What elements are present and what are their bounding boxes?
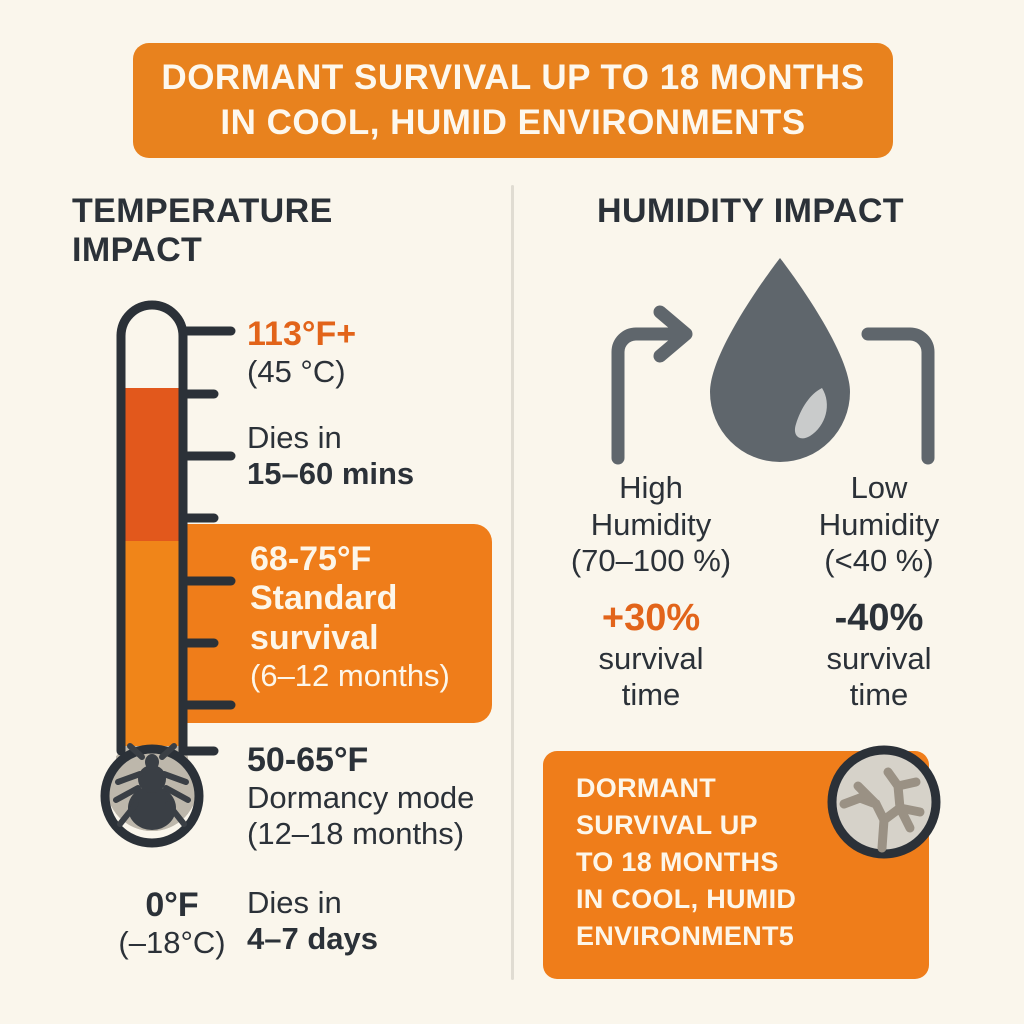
header-banner: DORMANT SURVIVAL UP TO 18 MONTHS IN COOL… [133,43,893,158]
label-dormancy-duration: (12–18 months) [247,816,474,852]
infographic-canvas: DORMANT SURVIVAL UP TO 18 MONTHS IN COOL… [0,0,1024,1024]
label-0f-value: 0°F [97,886,247,925]
humidity-low-range: (<40 %) [784,543,974,580]
label-dies-minutes-line1: Dies in [247,420,414,456]
elbow-line-down-icon [868,334,928,458]
water-droplet-icon [710,258,850,462]
humidity-high-delta: +30% [556,596,746,641]
humidity-section-title: HUMIDITY IMPACT [597,192,987,231]
humidity-low-name-line2: Humidity [784,507,974,544]
header-line-2: IN COOL, HUMID ENVIRONMENTS [220,101,805,145]
label-standard-duration: (6–12 months) [250,658,450,694]
label-dies-days: Dies in 4–7 days [247,885,378,957]
humidity-low-name-line1: Low [784,470,974,507]
humidity-high-range: (70–100 %) [556,543,746,580]
label-0f-celsius: (–18°C) [97,925,247,961]
humidity-low-delta: -40% [784,596,974,641]
label-113f: 113°F+ (45 °C) [247,315,356,390]
label-dormancy-value: 50-65°F [247,741,474,780]
header-line-1: DORMANT SURVIVAL UP TO 18 MONTHS [161,56,864,100]
card-line-4: IN COOL, HUMID [576,881,906,918]
label-dormancy: 50-65°F Dormancy mode (12–18 months) [247,741,474,852]
magnifier-mold-icon [824,742,944,862]
humidity-high-note-line2: time [556,677,746,714]
label-113f-celsius: (45 °C) [247,354,356,390]
humidity-high-name-line2: Humidity [556,507,746,544]
humidity-illustration [560,240,1000,480]
label-dies-days-line1: Dies in [247,885,378,921]
temperature-section-title: TEMPERATURE IMPACT [72,192,402,271]
label-standard-line3: survival [250,619,450,658]
humidity-low-note-line1: survival [784,641,974,678]
label-dormancy-line2: Dormancy mode [247,780,474,816]
label-dies-minutes: Dies in 15–60 mins [247,420,414,492]
column-divider [511,185,514,980]
thermometer-graphic [86,296,236,876]
humidity-high-note-line1: survival [556,641,746,678]
thermometer-ticks [183,331,231,751]
label-standard-line2: Standard [250,579,450,618]
label-dies-days-line2: 4–7 days [247,921,378,957]
label-113f-value: 113°F+ [247,315,356,354]
curved-arrow-up-right-icon [618,312,686,458]
label-0f: 0°F (–18°C) [97,886,247,961]
humidity-high-name-line1: High [556,470,746,507]
humidity-column-high: High Humidity (70–100 %) +30% survival t… [556,470,746,714]
label-dies-minutes-line2: 15–60 mins [247,456,414,492]
label-standard-value: 68-75°F [250,540,450,579]
card-line-5: ENVIRONMENT5 [576,918,906,955]
humidity-column-low: Low Humidity (<40 %) -40% survival time [784,470,974,714]
label-standard-survival: 68-75°F Standard survival (6–12 months) [250,540,450,694]
humidity-low-note-line2: time [784,677,974,714]
